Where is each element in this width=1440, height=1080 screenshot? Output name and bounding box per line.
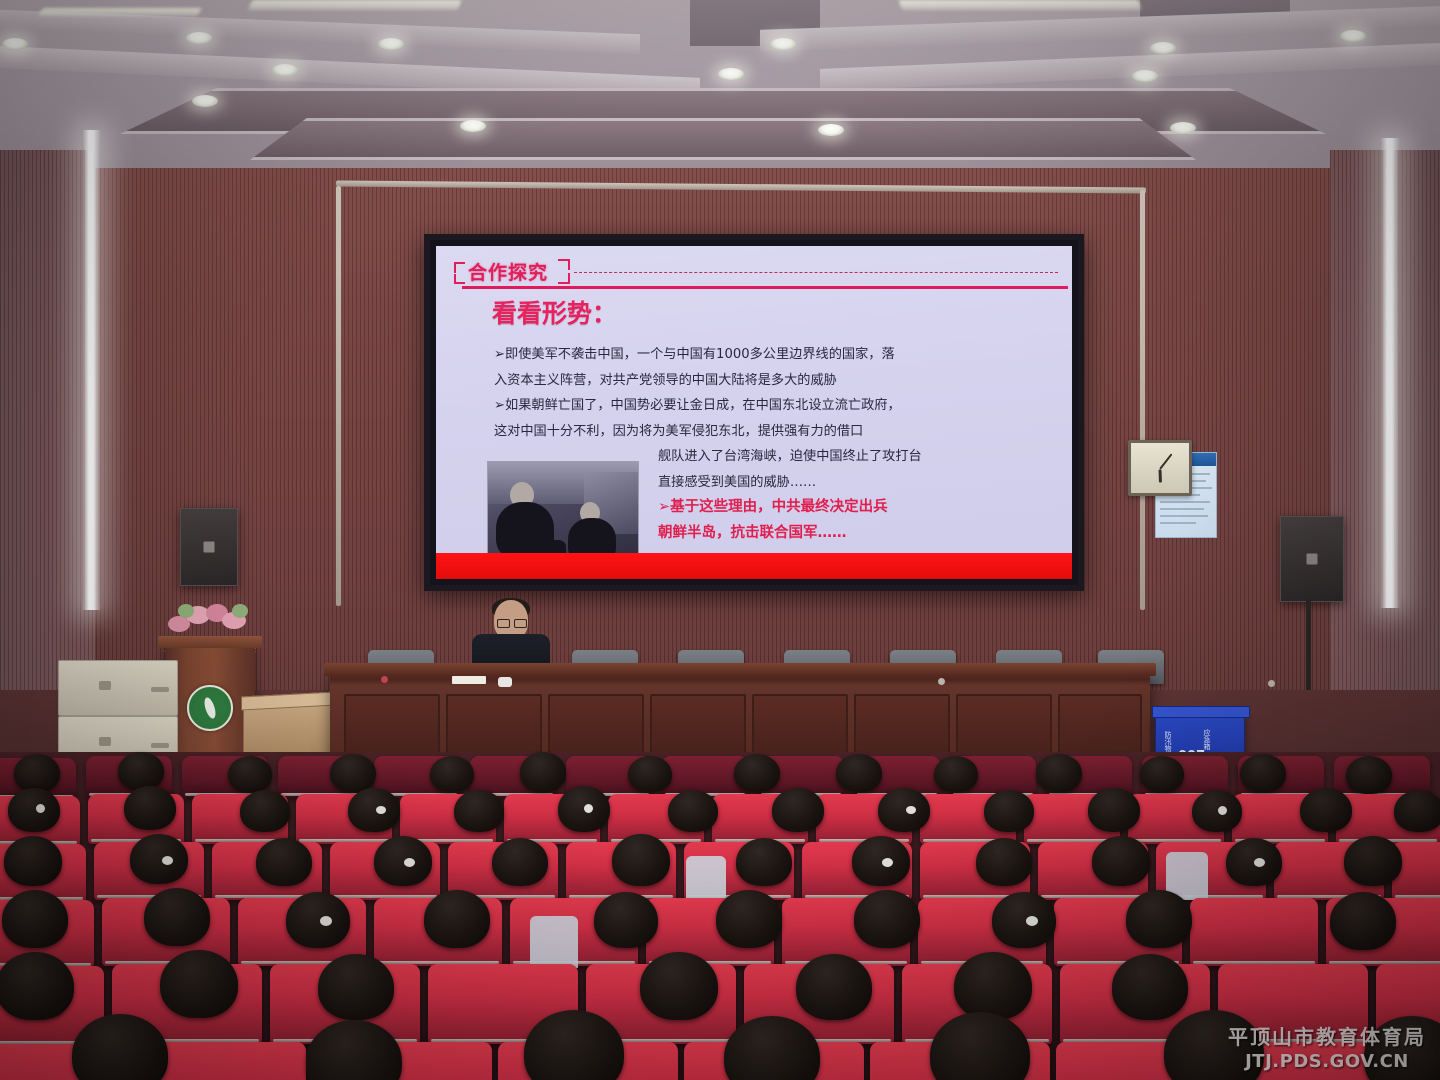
audience-head xyxy=(640,952,718,1020)
audience-head xyxy=(1092,836,1150,886)
audience-head xyxy=(492,838,548,886)
audience-head xyxy=(374,836,432,886)
audience-head xyxy=(1394,790,1440,832)
screen-support-post-right xyxy=(1140,190,1145,610)
slide-header: 合作探究 xyxy=(454,260,1062,288)
audience-head xyxy=(0,952,74,1020)
crate-lid xyxy=(1152,706,1250,718)
audience-head xyxy=(836,754,882,792)
clock-minute-hand xyxy=(1159,453,1172,469)
microphone-base xyxy=(381,676,388,683)
flower-arrangement xyxy=(160,600,260,640)
audience-shirt xyxy=(686,856,726,900)
audience-head xyxy=(1140,756,1184,792)
hair-clip xyxy=(882,858,893,867)
audience-head xyxy=(348,788,400,832)
wall-speaker-right xyxy=(1280,516,1344,602)
audience-head xyxy=(984,790,1034,832)
audience-head xyxy=(716,890,782,948)
audience-head xyxy=(934,756,978,792)
microphone-base xyxy=(498,677,512,687)
audience-head xyxy=(144,888,210,946)
audience-head xyxy=(594,892,658,948)
screen-support-post-left xyxy=(336,186,341,606)
slide-footer-band xyxy=(436,553,1072,579)
slide-bullet-line: 入资本主义阵营，对共产党领导的中国大陆将是多大的威胁 xyxy=(494,368,1056,394)
audience-head xyxy=(852,836,910,886)
audience-head xyxy=(628,756,672,792)
watermark: 平顶山市教育体育局 JTJ.PDS.GOV.CN xyxy=(1228,1021,1426,1072)
audience-shirt xyxy=(530,916,578,968)
microphone-base xyxy=(938,678,945,685)
audience-head xyxy=(1088,788,1140,832)
slide-bullet-line: 舰队进入了台湾海峡，迫使中国终止了攻打台 xyxy=(494,444,1056,470)
slide-bullet-line: ➢如果朝鲜亡国了，中国势必要让金日成，在中国东北设立流亡政府， xyxy=(494,393,1056,419)
audience-head xyxy=(1036,754,1082,792)
hair-clip xyxy=(1026,916,1038,926)
audience-head xyxy=(1344,836,1402,886)
ceiling xyxy=(0,0,1440,180)
school-emblem-icon xyxy=(187,685,233,731)
audience-head xyxy=(14,754,60,792)
audience-head xyxy=(520,752,566,792)
hair-clip xyxy=(162,856,173,865)
audience-head xyxy=(318,954,394,1020)
hair-clip xyxy=(376,806,386,814)
audience-seating: 02 8 xyxy=(0,752,1440,1080)
audience-head xyxy=(734,754,780,792)
audience-head xyxy=(1112,954,1188,1020)
audience-head xyxy=(1126,890,1192,948)
table-top xyxy=(324,663,1156,676)
slide-bullet-line: 这对中国十分不利，因为将为美军侵犯东北，提供强有力的借口 xyxy=(494,419,1056,445)
slide-title: 看看形势： xyxy=(492,294,617,330)
audience-head xyxy=(430,756,474,792)
audience-head xyxy=(130,834,188,884)
audience-head xyxy=(228,756,272,792)
audience-head xyxy=(160,950,238,1018)
hair-clip xyxy=(320,916,332,926)
slide-bullet-line: ➢即使美军不袭击中国，一个与中国有1000多公里边界线的国家，落 xyxy=(494,342,1056,368)
microphone-base xyxy=(1268,680,1275,687)
audience-head xyxy=(240,790,290,832)
slide-conclusion-line: 朝鲜半岛，抗击联合国军…… xyxy=(494,521,1056,547)
hair-clip xyxy=(906,806,916,814)
wall-clock xyxy=(1128,440,1192,496)
audience-head xyxy=(124,786,176,830)
audience-head xyxy=(256,838,312,886)
audience-head xyxy=(454,790,504,832)
audience-head xyxy=(736,838,792,886)
wall-strip-light-right xyxy=(1380,138,1400,608)
hair-clip xyxy=(404,858,415,867)
slide-header-dashed-rule xyxy=(574,272,1058,273)
auditorium-photo: 合作探究 看看形势： ➢即使美军不袭击中国，一个与中国有1000多公里边界线的国… xyxy=(0,0,1440,1080)
audience-head xyxy=(1330,892,1396,950)
audience-head xyxy=(1346,756,1392,794)
slide-bullet-line: 直接感受到美国的威胁…… xyxy=(494,470,1056,496)
document-on-table xyxy=(452,676,486,684)
audience-head xyxy=(330,754,376,792)
watermark-url: JTJ.PDS.GOV.CN xyxy=(1228,1051,1426,1072)
audience-head xyxy=(8,788,60,832)
slide-body: ➢即使美军不袭击中国，一个与中国有1000多公里边界线的国家，落 入资本主义阵营… xyxy=(494,342,1056,546)
audience-head xyxy=(612,834,670,886)
glasses-icon xyxy=(514,619,527,628)
clock-hour-hand xyxy=(1159,469,1162,482)
hair-clip xyxy=(584,804,593,813)
audience-head xyxy=(2,890,68,948)
audience-head xyxy=(878,788,930,832)
audience-head xyxy=(796,954,872,1020)
wall-speaker-left xyxy=(180,508,238,586)
speaker-logo-icon xyxy=(1307,554,1318,565)
audience-head xyxy=(954,952,1032,1020)
audience-head xyxy=(854,890,920,948)
watermark-chinese: 平顶山市教育体育局 xyxy=(1228,1021,1426,1050)
podium-top xyxy=(158,636,262,648)
hair-clip xyxy=(36,804,45,813)
audience-head xyxy=(286,892,350,948)
slide-header-label: 合作探究 xyxy=(468,258,548,285)
seat xyxy=(1190,898,1318,966)
audience-head xyxy=(4,836,62,886)
audience-head xyxy=(118,752,164,790)
slide-conclusion-line: ➢基于这些理由，中共最终决定出兵 xyxy=(494,495,1056,521)
audience-head xyxy=(1300,788,1352,832)
speaker-logo-icon xyxy=(204,542,215,553)
wall-strip-light-left xyxy=(82,130,101,610)
glasses-icon xyxy=(497,619,510,628)
audience-head xyxy=(992,892,1056,948)
audience-head xyxy=(424,890,490,948)
presentation-slide: 合作探究 看看形势： ➢即使美军不袭击中国，一个与中国有1000多公里边界线的国… xyxy=(436,246,1072,579)
hair-clip xyxy=(1218,806,1227,815)
audience-head xyxy=(976,838,1032,886)
audience-head xyxy=(772,788,824,832)
projection-screen: 合作探究 看看形势： ➢即使美军不袭击中国，一个与中国有1000多公里边界线的国… xyxy=(424,234,1084,591)
audience-head xyxy=(1240,754,1286,792)
hair-clip xyxy=(1254,858,1265,867)
audience-head xyxy=(668,790,718,832)
slide-header-rule xyxy=(462,286,1068,289)
audience-head xyxy=(1192,790,1242,832)
